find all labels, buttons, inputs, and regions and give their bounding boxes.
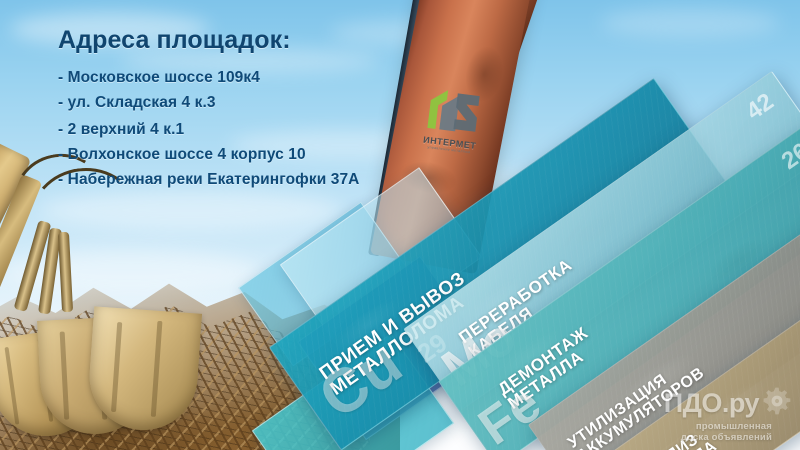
page-title: Адреса площадок: [58, 26, 478, 55]
address-item: - 2 верхний 4 к.1 [58, 121, 478, 139]
address-item: - ул. Складская 4 к.3 [58, 94, 478, 112]
cloud [600, 8, 780, 38]
element-number-mo: 42 [742, 90, 778, 125]
address-list: - Московское шоссе 109к4 - ул. Складская… [58, 69, 478, 189]
address-item: - Набережная реки Екатерингофки 37А [58, 171, 478, 189]
headline-block: Адреса площадок: - Московское шоссе 109к… [58, 26, 478, 196]
address-item: - Московское шоссе 109к4 [58, 69, 478, 87]
address-item: - Волхонское шоссе 4 корпус 10 [58, 146, 478, 164]
element-number-fe: 26 [778, 139, 800, 174]
banner-image: ИНТЕРМЕТ управление металлом ПРИЕМ И ВЫВ… [0, 0, 800, 450]
